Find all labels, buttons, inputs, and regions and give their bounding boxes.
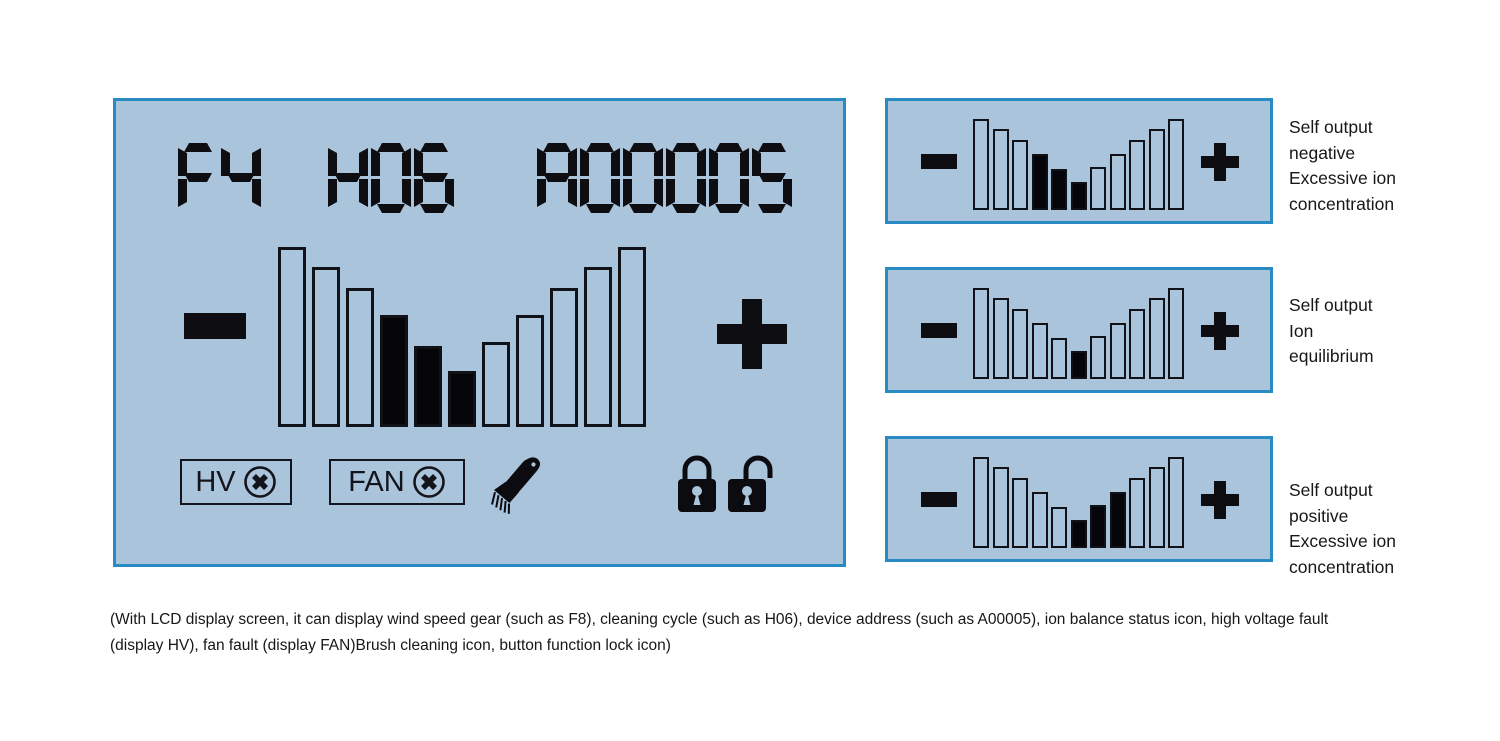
ion-balance-bar bbox=[1090, 336, 1106, 379]
fan-fault-indicator[interactable]: FAN bbox=[329, 459, 465, 505]
legend-panel-positive bbox=[885, 436, 1273, 562]
minus-sign-icon bbox=[921, 492, 957, 507]
fan-fault-x-icon bbox=[412, 465, 446, 499]
legend-label-negative: Self output negative Excessive ion conce… bbox=[1289, 115, 1489, 217]
ion-balance-bar bbox=[1012, 309, 1028, 379]
ion-balance-bar bbox=[1110, 154, 1126, 210]
plus-sign-icon bbox=[1201, 312, 1239, 350]
ion-balance-bar bbox=[993, 298, 1009, 379]
ion-balance-bar bbox=[1168, 119, 1184, 210]
ion-balance-bar bbox=[448, 371, 476, 427]
ion-balance-bar bbox=[973, 288, 989, 379]
ion-balance-bar bbox=[1051, 169, 1067, 210]
ion-balance-bar bbox=[278, 247, 306, 427]
ion-balance-bar bbox=[1110, 492, 1126, 548]
minus-sign-icon bbox=[184, 313, 246, 339]
plus-sign-icon bbox=[717, 299, 787, 369]
ion-balance-bar bbox=[1129, 309, 1145, 379]
legend-bars-positive bbox=[973, 457, 1184, 548]
ion-balance-bar bbox=[993, 467, 1009, 548]
high-voltage-fault-indicator[interactable]: HV bbox=[180, 459, 292, 505]
ion-balance-bar bbox=[618, 247, 646, 427]
caption-line-1: (With LCD display screen, it can display… bbox=[110, 607, 1410, 633]
legend-label-equilibrium: Self output Ion equilibrium bbox=[1289, 293, 1489, 370]
plus-sign-icon bbox=[1201, 481, 1239, 519]
lcd-main-panel: HV FAN bbox=[113, 98, 846, 567]
minus-sign-icon bbox=[921, 154, 957, 169]
ion-balance-bar bbox=[482, 342, 510, 427]
ion-balance-bar bbox=[1129, 140, 1145, 210]
ion-balance-bar bbox=[584, 267, 612, 427]
ion-balance-bar bbox=[1032, 323, 1048, 379]
ion-balance-bar bbox=[1168, 457, 1184, 548]
legend-bars-equilibrium bbox=[973, 288, 1184, 379]
fan-label: FAN bbox=[348, 468, 404, 497]
hv-label: HV bbox=[195, 468, 235, 497]
ion-balance-bar bbox=[993, 129, 1009, 210]
ion-balance-bar bbox=[1149, 467, 1165, 548]
ion-balance-bar bbox=[1090, 167, 1106, 210]
legend-bars-negative bbox=[973, 119, 1184, 210]
ion-balance-bar bbox=[1071, 351, 1087, 379]
ion-balance-bar bbox=[1012, 478, 1028, 548]
caption-line-2: (display HV), fan fault (display FAN)Bru… bbox=[110, 633, 1410, 659]
minus-sign-icon bbox=[921, 323, 957, 338]
ion-balance-bar bbox=[973, 457, 989, 548]
ion-balance-bar bbox=[1071, 520, 1087, 548]
ion-balance-bar bbox=[1149, 298, 1165, 379]
ion-balance-bar bbox=[312, 267, 340, 427]
ion-balance-bar bbox=[516, 315, 544, 427]
legend-label-positive: Self output positive Excessive ion conce… bbox=[1289, 478, 1489, 580]
ion-balance-bar bbox=[1090, 505, 1106, 548]
ion-balance-bar bbox=[1032, 154, 1048, 210]
caption: (With LCD display screen, it can display… bbox=[110, 607, 1410, 658]
status-icon-row: HV FAN bbox=[116, 459, 843, 519]
ion-balance-bar bbox=[414, 346, 442, 427]
ion-balance-bar bbox=[380, 315, 408, 427]
ion-balance-bar bbox=[1110, 323, 1126, 379]
ion-balance-bars bbox=[278, 247, 646, 427]
legend-panel-negative bbox=[885, 98, 1273, 224]
ion-balance-bar bbox=[973, 119, 989, 210]
ion-balance-bar bbox=[1032, 492, 1048, 548]
lock-locked-icon[interactable] bbox=[674, 453, 720, 515]
plus-sign-icon bbox=[1201, 143, 1239, 181]
hv-fault-x-icon bbox=[243, 465, 277, 499]
ion-balance-bar bbox=[1071, 182, 1087, 210]
ion-balance-bar bbox=[346, 288, 374, 427]
ion-balance-bar bbox=[1168, 288, 1184, 379]
ion-balance-bar bbox=[1051, 507, 1067, 548]
ion-balance-bar bbox=[1012, 140, 1028, 210]
lock-unlocked-icon[interactable] bbox=[724, 453, 776, 515]
brush-cleaning-icon[interactable] bbox=[488, 455, 554, 515]
ion-balance-bar bbox=[550, 288, 578, 427]
ion-balance-bar bbox=[1051, 338, 1067, 379]
ion-balance-bar bbox=[1149, 129, 1165, 210]
ion-balance-bar bbox=[1129, 478, 1145, 548]
legend-panel-equilibrium bbox=[885, 267, 1273, 393]
